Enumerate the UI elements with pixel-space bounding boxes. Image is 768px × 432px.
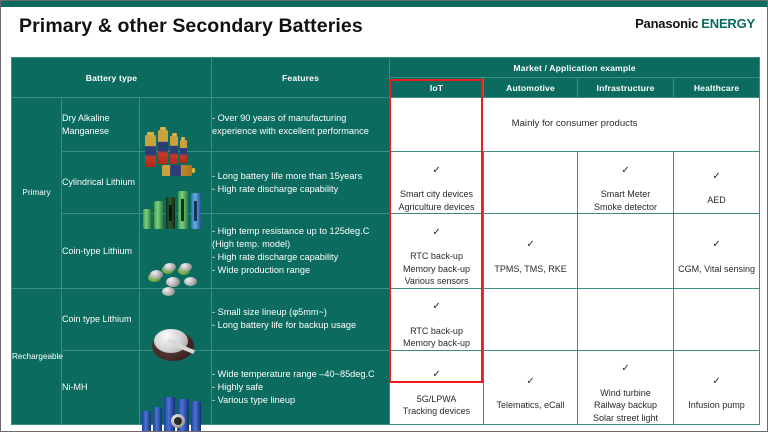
market-cell-healthcare: ✓ AED	[674, 152, 760, 214]
panasonic-energy-logo: PanasonicENERGY	[635, 16, 755, 31]
market-cell-infrastructure: ✓ Wind turbine Railway backup Solar stre…	[578, 350, 674, 425]
market-cell-automotive	[484, 288, 578, 350]
header-automotive: Automotive	[484, 78, 578, 98]
features-text: - Over 90 years of manufacturing experie…	[212, 98, 390, 152]
check-icon: ✓	[578, 165, 673, 176]
check-icon: ✓	[674, 376, 759, 387]
check-icon: ✓	[390, 227, 483, 238]
alkaline-batteries-image	[140, 98, 212, 152]
market-cell-healthcare: ✓ Infusion pump	[674, 350, 760, 425]
logo-brand-text: Panasonic	[635, 16, 698, 31]
header-market-application: Market / Application example	[390, 58, 760, 78]
nimh-batteries-image	[140, 350, 212, 425]
market-cell-healthcare: ✓ CGM, Vital sensing	[674, 214, 760, 289]
check-icon: ✓	[484, 239, 577, 250]
check-icon: ✓	[674, 239, 759, 250]
market-merged-cell: Mainly for consumer products	[390, 98, 760, 152]
market-cell-healthcare	[674, 288, 760, 350]
table-row: Primary Dry Alkaline Manganese - Over 90…	[12, 98, 760, 152]
table-header-row-top: Battery type Features Market / Applicati…	[12, 58, 760, 78]
battery-type-label: Cylindrical Lithium	[62, 152, 140, 214]
battery-type-label: Coin-type Lithium	[62, 214, 140, 289]
check-icon: ✓	[390, 301, 483, 312]
market-cell-text: Wind turbine Railway backup Solar street…	[593, 388, 658, 423]
market-cell-infrastructure: ✓ Smart Meter Smoke detector	[578, 152, 674, 214]
check-icon: ✓	[390, 165, 483, 176]
header-features: Features	[212, 58, 390, 98]
slide-root: Primary & other Secondary Batteries Pana…	[0, 0, 768, 432]
header-battery-type: Battery type	[12, 58, 212, 98]
battery-type-label: Coin type Lithium	[62, 288, 140, 350]
market-cell-text: Infusion pump	[688, 400, 745, 410]
header-healthcare: Healthcare	[674, 78, 760, 98]
check-icon: ✓	[674, 171, 759, 182]
table-row: Ni-MH - Wide temperature range –40~85deg…	[12, 350, 760, 425]
table-row: Coin-type Lithium - High temp resistance…	[12, 214, 760, 289]
market-cell-text: 5G/LPWA Tracking devices	[403, 394, 470, 417]
market-cell-infrastructure	[578, 288, 674, 350]
check-icon: ✓	[578, 363, 673, 374]
market-cell-automotive: ✓ Telematics, eCall	[484, 350, 578, 425]
market-cell-iot: ✓ Smart city devices Agriculture devices	[390, 152, 484, 214]
features-text: - Small size lineup (φ5mm~) - Long batte…	[212, 288, 390, 350]
market-cell-text: Smart Meter Smoke detector	[594, 189, 657, 212]
features-text: - Wide temperature range –40~85deg.C - H…	[212, 350, 390, 425]
battery-type-label: Dry Alkaline Manganese	[62, 98, 140, 152]
features-text: - High temp resistance up to 125deg.C (H…	[212, 214, 390, 289]
page-title: Primary & other Secondary Batteries	[19, 15, 363, 38]
check-icon: ✓	[484, 376, 577, 387]
market-cell-text: RTC back-up Memory back-up	[403, 326, 470, 349]
market-cell-text: Smart city devices Agriculture devices	[399, 189, 475, 212]
table-row: Cylindrical Lithium - Long battery life …	[12, 152, 760, 214]
market-cell-text: TPMS, TMS, RKE	[494, 264, 566, 274]
market-cell-text: CGM, Vital sensing	[678, 264, 755, 274]
category-label-rechargeable: Rechargeable	[12, 288, 62, 425]
header-iot: IoT	[390, 78, 484, 98]
market-cell-text: Telematics, eCall	[497, 400, 565, 410]
coin-cell-with-tab-image	[140, 288, 212, 350]
market-cell-automotive: ✓ TPMS, TMS, RKE	[484, 214, 578, 289]
table-row: Rechargeable Coin type Lithium - Small s…	[12, 288, 760, 350]
market-cell-iot: ✓ RTC back-up Memory back-up Various sen…	[390, 214, 484, 289]
battery-type-label: Ni-MH	[62, 350, 140, 425]
battery-comparison-table: Battery type Features Market / Applicati…	[11, 57, 760, 425]
market-cell-text: AED	[707, 195, 726, 205]
category-label-primary: Primary	[12, 98, 62, 289]
check-icon: ✓	[390, 369, 483, 380]
features-text: - Long battery life more than 15years - …	[212, 152, 390, 214]
market-cell-iot: ✓ RTC back-up Memory back-up	[390, 288, 484, 350]
market-cell-text: RTC back-up Memory back-up Various senso…	[403, 251, 470, 286]
market-cell-iot: ✓ 5G/LPWA Tracking devices	[390, 350, 484, 425]
header-infrastructure: Infrastructure	[578, 78, 674, 98]
market-cell-infrastructure	[578, 214, 674, 289]
top-accent-bar	[1, 1, 768, 7]
market-cell-automotive	[484, 152, 578, 214]
logo-sub-text: ENERGY	[701, 16, 755, 31]
